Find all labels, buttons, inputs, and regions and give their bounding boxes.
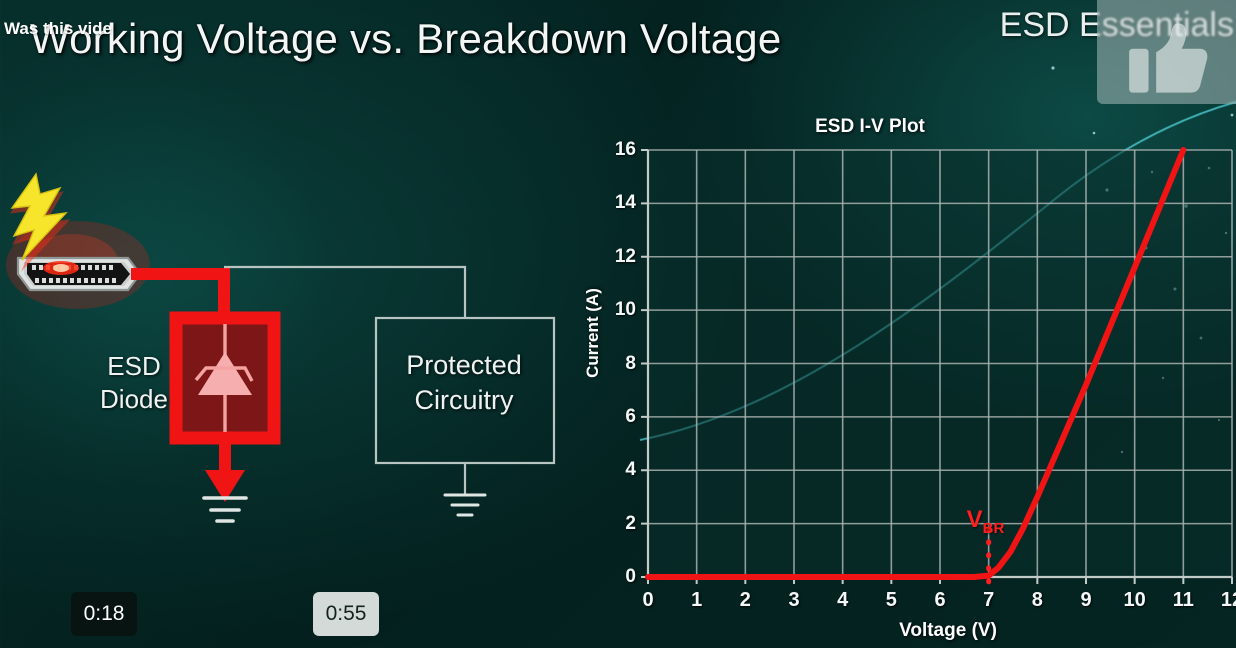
total-time-badge[interactable]: 0:55 xyxy=(313,592,379,636)
esd-diode-label-line2: Diode xyxy=(88,383,180,416)
vbr-annotation: VBR xyxy=(967,506,1005,537)
protected-label-line1: Protected xyxy=(378,348,550,383)
vbr-text: V xyxy=(967,506,983,533)
esd-trace xyxy=(137,274,224,318)
esd-diode-block xyxy=(176,318,274,438)
signal-wire xyxy=(224,267,465,318)
video-frame: Working Voltage vs. Breakdown Voltage ES… xyxy=(0,0,1236,648)
chart-plot-area xyxy=(570,108,1236,648)
esd-diode-label: ESD Diode xyxy=(88,350,180,415)
esd-diode-label-line1: ESD xyxy=(88,350,180,383)
thumbs-up-icon[interactable] xyxy=(1125,20,1211,96)
current-time-badge[interactable]: 0:18 xyxy=(71,592,137,636)
protected-circuitry-label: Protected Circuitry xyxy=(378,348,550,418)
esd-iv-chart: ESD I-V Plot Current (A) Voltage (V) 024… xyxy=(570,108,1236,648)
ground-symbol-icon-2 xyxy=(445,495,485,515)
feedback-question: Was this vide xyxy=(4,19,194,39)
protected-label-line2: Circuitry xyxy=(378,383,550,418)
vbr-subscript: BR xyxy=(983,520,1005,537)
hdmi-connector-icon xyxy=(18,258,140,290)
feedback-overlay[interactable] xyxy=(1097,0,1236,104)
